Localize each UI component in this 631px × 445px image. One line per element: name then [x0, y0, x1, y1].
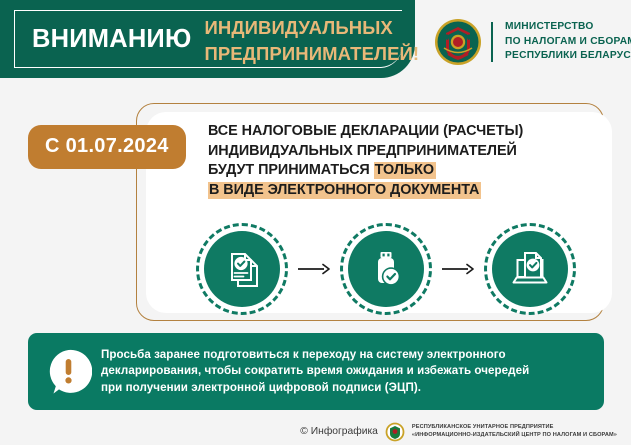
infographic-page: ВНИМАНИЮ ИНДИВИДУАЛЬНЫХ ПРЕДПРИНИМАТЕЛЕЙ…: [0, 0, 631, 445]
notice-line-2: декларирования, чтобы сократить время ож…: [101, 363, 529, 379]
footer-copyright: © Инфографика: [300, 426, 378, 437]
ministry-block: МИНИСТЕРСТВО ПО НАЛОГАМ И СБОРАМ РЕСПУБЛ…: [434, 18, 631, 66]
step-documents: [196, 223, 288, 315]
arrow-2: [432, 259, 484, 279]
step-disc: [348, 231, 424, 307]
step-disc: [492, 231, 568, 307]
documents-with-check-icon: [219, 246, 265, 292]
header-title-group: ВНИМАНИЮ ИНДИВИДУАЛЬНЫХ ПРЕДПРИНИМАТЕЛЕЙ…: [32, 14, 419, 66]
header-audience-group: ИНДИВИДУАЛЬНЫХ ПРЕДПРИНИМАТЕЛЕЙ!: [204, 14, 419, 66]
main-statement-line-4: В ВИДЕ ЭЛЕКТРОННОГО ДОКУМЕНТА: [208, 181, 600, 201]
step-laptop-document: [484, 223, 576, 315]
header-audience-line-2: ПРЕДПРИНИМАТЕЛЕЙ!: [204, 40, 419, 66]
ric-emblem-icon: [385, 422, 405, 442]
main-line3-highlight: ТОЛЬКО: [374, 162, 436, 179]
main-line3-plain: БУДУТ ПРИНИМАТЬСЯ: [208, 162, 374, 178]
notice-callout: Просьба заранее подготовиться к переходу…: [28, 333, 604, 410]
footer-org-lines: РЕСПУБЛИКАНСКОЕ УНИТАРНОЕ ПРЕДПРИЯТИЕ «И…: [412, 424, 617, 440]
notice-text: Просьба заранее подготовиться к переходу…: [92, 347, 541, 396]
footer-bar: © Инфографика РЕСПУБЛИКАНСКОЕ УНИТАРНОЕ …: [0, 418, 631, 445]
step-disc: [204, 231, 280, 307]
effective-date-badge: С 01.07.2024: [28, 125, 186, 169]
step-usb-key: [340, 223, 432, 315]
process-steps-row: [196, 222, 576, 316]
ministry-line-2: ПО НАЛОГАМ И СБОРАМ: [505, 36, 631, 49]
arrow-right-icon: [441, 262, 475, 276]
arrow-right-icon: [297, 262, 331, 276]
belarus-tax-ministry-emblem-icon: [434, 18, 482, 66]
main-statement-line-3: БУДУТ ПРИНИМАТЬСЯ ТОЛЬКО: [208, 161, 600, 181]
ministry-name-lines: МИНИСТЕРСТВО ПО НАЛОГАМ И СБОРАМ РЕСПУБЛ…: [502, 21, 631, 63]
ministry-line-1: МИНИСТЕРСТВО: [505, 21, 631, 34]
notice-line-3: при получении электронной цифровой подпи…: [101, 380, 529, 396]
ministry-line-3: РЕСПУБЛИКИ БЕЛАРУСЬ: [505, 50, 631, 63]
header-audience-line-1: ИНДИВИДУАЛЬНЫХ: [204, 14, 419, 40]
header-banner: ВНИМАНИЮ ИНДИВИДУАЛЬНЫХ ПРЕДПРИНИМАТЕЛЕЙ…: [0, 0, 415, 78]
ministry-divider: [491, 22, 493, 62]
main-statement-line-1: ВСЕ НАЛОГОВЫЕ ДЕКЛАРАЦИИ (РАСЧЕТЫ): [208, 122, 600, 142]
notice-line-1: Просьба заранее подготовиться к переходу…: [101, 347, 529, 363]
footer-org-line-1: РЕСПУБЛИКАНСКОЕ УНИТАРНОЕ ПРЕДПРИЯТИЕ: [412, 424, 617, 431]
header-attention-word: ВНИМАНИЮ: [32, 14, 191, 64]
arrow-1: [288, 259, 340, 279]
usb-key-with-check-icon: [363, 246, 409, 292]
laptop-document-with-check-icon: [507, 246, 553, 292]
exclamation-speech-bubble-icon: [45, 348, 92, 395]
footer-org-line-2: «ИНФОРМАЦИОННО-ИЗДАТЕЛЬСКИЙ ЦЕНТР ПО НАЛ…: [412, 432, 617, 439]
main-statement: ВСЕ НАЛОГОВЫЕ ДЕКЛАРАЦИИ (РАСЧЕТЫ) ИНДИВ…: [208, 122, 600, 200]
main-statement-line-2: ИНДИВИДУАЛЬНЫХ ПРЕДПРИНИМАТЕЛЕЙ: [208, 142, 600, 162]
main-line4-highlight: В ВИДЕ ЭЛЕКТРОННОГО ДОКУМЕНТА: [208, 182, 481, 199]
